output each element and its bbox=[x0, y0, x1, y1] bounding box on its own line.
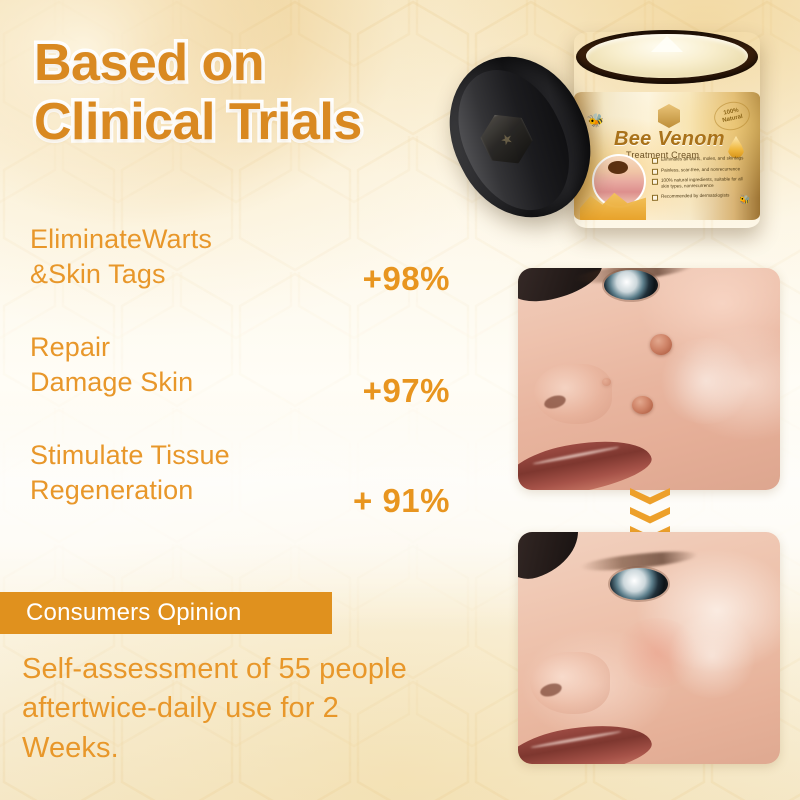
brand-crest-icon bbox=[658, 104, 680, 128]
skin-tag-lower bbox=[632, 396, 653, 414]
product-feature-list: Eliminates all warts, moles, and skintag… bbox=[652, 156, 752, 203]
opinion-line-1: Self-assessment of 55 people bbox=[22, 650, 462, 689]
after-photo bbox=[518, 532, 780, 764]
opinion-line-3: Weeks. bbox=[22, 729, 462, 768]
benefit-percentage: + 91% bbox=[353, 482, 450, 520]
benefit-list: EliminateWarts &Skin Tags +98% Repair Da… bbox=[30, 222, 450, 546]
checkbox-icon bbox=[652, 194, 658, 200]
benefit-label-line-1: Stimulate Tissue bbox=[30, 438, 300, 473]
benefit-label: EliminateWarts &Skin Tags bbox=[30, 222, 300, 292]
benefit-label-line-1: Repair bbox=[30, 330, 300, 365]
benefit-percentage: +98% bbox=[363, 260, 450, 298]
product-feature-text: Recommended by dermatologists bbox=[661, 192, 730, 199]
skin-tag-upper bbox=[650, 334, 672, 355]
benefit-label-line-2: Regeneration bbox=[30, 473, 300, 508]
benefit-label-line-1: EliminateWarts bbox=[30, 222, 300, 257]
jar-label: 🐝 Bee Venom Treatment Cream 100% Natural… bbox=[574, 92, 760, 220]
benefit-label-line-2: &Skin Tags bbox=[30, 257, 300, 292]
bee-icon: 🐝 bbox=[738, 194, 751, 207]
checkbox-icon bbox=[652, 157, 658, 163]
product-feature-item: 100% natural ingredients, suitable for a… bbox=[652, 176, 752, 189]
checkbox-icon bbox=[652, 178, 658, 184]
bee-icon: 🐝 bbox=[586, 112, 605, 129]
product-feature-item: Painless, scar-free, and nonrecurrence bbox=[652, 166, 752, 174]
headline-line-2: Clinical Trials bbox=[34, 93, 464, 152]
benefit-percentage: +97% bbox=[363, 372, 450, 410]
promo-poster: Based on Clinical Trials EliminateWarts … bbox=[0, 0, 800, 800]
consumers-opinion-text: Self-assessment of 55 people aftertwice-… bbox=[22, 650, 462, 768]
chevron-down-icon bbox=[630, 507, 670, 525]
before-photo bbox=[518, 268, 780, 490]
benefit-label: Repair Damage Skin bbox=[30, 330, 300, 400]
product-brand-name: Bee Venom bbox=[614, 128, 725, 151]
benefit-row: Repair Damage Skin +97% bbox=[30, 330, 450, 438]
product-feature-item: Eliminates all warts, moles, and skintag… bbox=[652, 155, 752, 163]
benefit-label: Stimulate Tissue Regeneration bbox=[30, 438, 300, 508]
eye bbox=[610, 568, 668, 600]
opinion-line-2: aftertwice-daily use for 2 bbox=[22, 689, 462, 728]
consumers-opinion-banner: Consumers Opinion bbox=[0, 592, 332, 634]
checkbox-icon bbox=[652, 168, 658, 174]
headline-line-1: Based on bbox=[34, 34, 464, 93]
cheek-highlight bbox=[666, 614, 758, 698]
consumers-opinion-label: Consumers Opinion bbox=[0, 599, 242, 627]
jar-cream-content bbox=[586, 34, 748, 78]
product-feature-item: Recommended by dermatologists bbox=[652, 192, 752, 200]
product-feature-text: 100% natural ingredients, suitable for a… bbox=[661, 176, 752, 189]
benefit-row: Stimulate Tissue Regeneration + 91% bbox=[30, 438, 450, 546]
product-jar: 🐝 Bee Venom Treatment Cream 100% Natural… bbox=[452, 18, 792, 258]
nose bbox=[530, 652, 610, 714]
nose bbox=[534, 364, 612, 424]
eye bbox=[604, 270, 658, 300]
lid-bee-emblem-icon: ★ bbox=[474, 105, 539, 174]
page-title: Based on Clinical Trials bbox=[34, 34, 464, 152]
product-feature-text: Eliminates all warts, moles, and skintag… bbox=[661, 155, 744, 162]
cheek-highlight bbox=[658, 338, 754, 424]
chevron-down-icon bbox=[630, 488, 670, 506]
benefit-label-line-2: Damage Skin bbox=[30, 365, 300, 400]
benefit-row: EliminateWarts &Skin Tags +98% bbox=[30, 222, 450, 330]
product-feature-text: Painless, scar-free, and nonrecurrence bbox=[661, 166, 740, 173]
